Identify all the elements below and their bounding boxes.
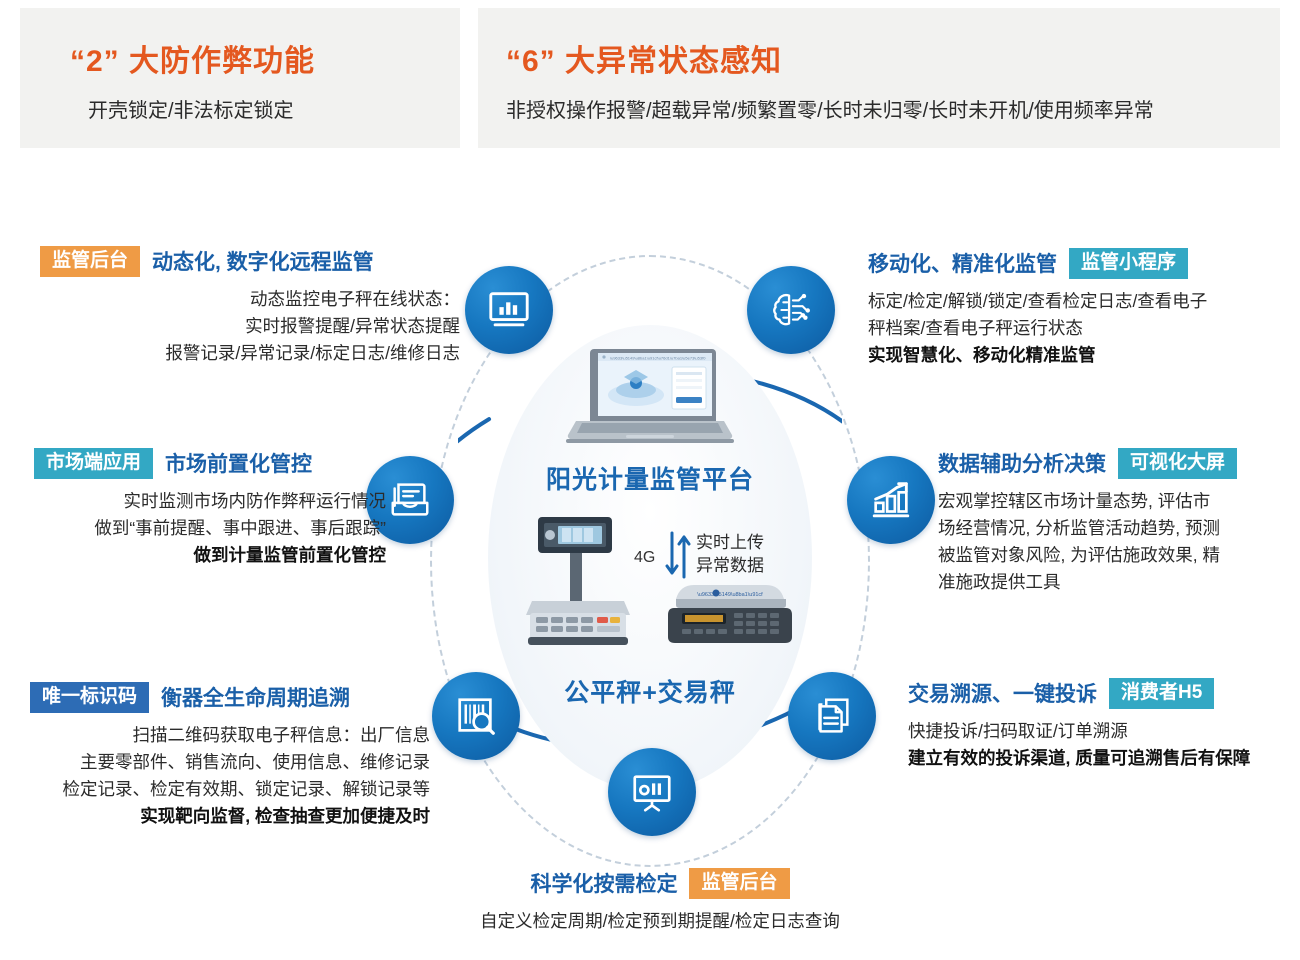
center-content: \u9633\u5149\u8ba1\u91cf\u76d1\u7ba1\u5e…	[488, 325, 812, 791]
network-label: 4G	[634, 549, 655, 567]
badge-visualization-screen: 可视化大屏	[1118, 448, 1237, 479]
block-heading: 科学化按需检定 监管后台	[400, 868, 920, 899]
body-line: 实时监测市场内防作弊秤运行情况	[34, 488, 386, 515]
body-line-bold: 做到计量监管前置化管控	[34, 542, 386, 569]
badge-market-app: 市场端应用	[34, 448, 153, 479]
block-title: 数据辅助分析决策	[938, 448, 1106, 478]
upload-label-line2: 异常数据	[696, 554, 764, 577]
upload-label-line1: 实时上传	[696, 531, 764, 554]
platform-title: 阳光计量监管平台	[488, 460, 812, 496]
block-body: 扫描二维码获取电子秤信息：出厂信息 主要零部件、销售流向、使用信息、维修记录 检…	[30, 722, 430, 830]
svg-text:\u9633\u5149\u8ba1\u91cf: \u9633\u5149\u8ba1\u91cf	[697, 592, 763, 598]
block-transaction-traceback-complaint: 交易溯源、一键投诉 消费者H5 快捷投诉/扫码取证/订单溯源 建立有效的投诉渠道…	[908, 678, 1288, 772]
body-line: 自定义检定周期/检定预到期提醒/检定日志查询	[400, 908, 920, 935]
block-dynamic-remote-supervision: 监管后台 动态化, 数字化远程监管 动态监控电子秤在线状态： 实时报警提醒/异常…	[40, 246, 460, 367]
upload-label: 实时上传 异常数据	[696, 531, 764, 577]
block-market-front-control: 市场端应用 市场前置化管控 实时监测市场内防作弊秤运行情况 做到“事前提醒、事中…	[34, 448, 386, 569]
body-line-bold: 实现靶向监督, 检查抽查更加便捷及时	[30, 803, 430, 830]
svg-text:\u9633\u5149\u8ba1\u91cf\u76d1: \u9633\u5149\u8ba1\u91cf\u76d1\u7ba1\u5e…	[610, 356, 706, 361]
node-scientific-verification[interactable]	[608, 748, 696, 836]
node-mobile-precise-supervision[interactable]	[747, 266, 835, 354]
body-line: 扫描二维码获取电子秤信息：出厂信息	[30, 722, 430, 749]
block-scientific-verification: 科学化按需检定 监管后台 自定义检定周期/检定预到期提醒/检定日志查询	[400, 868, 920, 935]
body-line: 标定/检定/解锁/锁定/查看检定日志/查看电子	[868, 288, 1280, 315]
block-body: 宏观掌控辖区市场计量态势, 评估市 场经营情况, 分析监管活动趋势, 预测 被监…	[938, 488, 1288, 596]
block-body: 自定义检定周期/检定预到期提醒/检定日志查询	[400, 908, 920, 935]
infographic-canvas: “2” 大防作弊功能 开壳锁定/非法标定锁定 “6” 大异常状态感知 非授权操作…	[0, 0, 1300, 960]
body-line: 被监管对象风险, 为评估施政效果, 精	[938, 542, 1288, 569]
body-line: 报警记录/异常记录/标定日志/维修日志	[40, 340, 460, 367]
block-heading: 市场端应用 市场前置化管控	[34, 448, 386, 479]
node-data-analysis-decision[interactable]	[847, 456, 935, 544]
block-title: 市场前置化管控	[165, 448, 312, 478]
inbox-document-icon	[387, 477, 433, 523]
header-panel-title: “2” 大防作弊功能	[70, 36, 315, 80]
block-heading: 移动化、精准化监管 监管小程序	[868, 248, 1280, 279]
body-line-bold: 建立有效的投诉渠道, 质量可追溯售后有保障	[908, 745, 1288, 772]
badge-supervision-backend: 监管后台	[40, 246, 140, 277]
block-mobile-precise-supervision: 移动化、精准化监管 监管小程序 标定/检定/解锁/锁定/查看检定日志/查看电子 …	[868, 248, 1280, 369]
block-heading: 数据辅助分析决策 可视化大屏	[938, 448, 1288, 479]
badge-supervision-miniprogram: 监管小程序	[1069, 248, 1188, 279]
block-title: 动态化, 数字化远程监管	[152, 246, 374, 276]
laptop-illustration: \u9633\u5149\u8ba1\u91cf\u76d1\u7ba1\u5e…	[564, 343, 736, 449]
node-lifecycle-traceability[interactable]	[432, 672, 520, 760]
body-line: 宏观掌控辖区市场计量态势, 评估市	[938, 488, 1288, 515]
block-title: 衡器全生命周期追溯	[161, 682, 350, 712]
body-line: 快捷投诉/扫码取证/订单溯源	[908, 718, 1288, 745]
node-transaction-traceback-complaint[interactable]	[788, 672, 876, 760]
header-panel-subtitle: 非授权操作报警/超载异常/频繁置零/长时未归零/长时未开机/使用频率异常	[506, 94, 1154, 123]
scales-caption: 公平秤+交易秤	[488, 673, 812, 709]
scales-illustration-row: \u9633\u5149\u8ba1\u91cf 4G	[504, 505, 796, 655]
ai-brain-icon	[768, 287, 814, 333]
body-line: 场经营情况, 分析监管活动趋势, 预测	[938, 515, 1288, 542]
block-lifecycle-traceability: 唯一标识码 衡器全生命周期追溯 扫描二维码获取电子秤信息：出厂信息 主要零部件、…	[30, 682, 430, 830]
badge-unique-id-code: 唯一标识码	[30, 682, 149, 713]
flat-scale-illustration: \u9633\u5149\u8ba1\u91cf	[668, 577, 792, 649]
upload-download-arrows-icon	[664, 531, 692, 579]
body-line: 主要零部件、销售流向、使用信息、维修记录	[30, 749, 430, 776]
badge-supervision-backend: 监管后台	[689, 868, 789, 899]
header-panel-anomaly: “6” 大异常状态感知 非授权操作报警/超载异常/频繁置零/长时未归零/长时未开…	[478, 8, 1280, 148]
growth-bar-chart-icon	[868, 477, 914, 523]
body-line: 检定记录、检定有效期、锁定记录、解锁记录等	[30, 776, 430, 803]
block-title: 移动化、精准化监管	[868, 248, 1057, 278]
node-dynamic-remote-supervision[interactable]	[465, 266, 553, 354]
block-heading: 唯一标识码 衡器全生命周期追溯	[30, 682, 430, 713]
body-line: 秤档案/查看电子秤运行状态	[868, 315, 1280, 342]
block-heading: 交易溯源、一键投诉 消费者H5	[908, 678, 1288, 709]
header-panel-anti-cheat: “2” 大防作弊功能 开壳锁定/非法标定锁定	[20, 8, 460, 148]
badge-consumer-h5: 消费者H5	[1109, 678, 1214, 709]
block-title: 科学化按需检定	[530, 868, 677, 898]
body-line: 实时报警提醒/异常状态提醒	[40, 313, 460, 340]
body-line-bold: 实现智慧化、移动化精准监管	[868, 342, 1280, 369]
header-panel-title: “6” 大异常状态感知	[506, 36, 782, 80]
block-data-analysis-decision: 数据辅助分析决策 可视化大屏 宏观掌控辖区市场计量态势, 评估市 场经营情况, …	[938, 448, 1288, 596]
body-line: 做到“事前提醒、事中跟进、事后跟踪”	[34, 515, 386, 542]
documents-copy-icon	[809, 693, 855, 739]
block-title: 交易溯源、一键投诉	[908, 678, 1097, 708]
monitor-chart-icon	[486, 287, 532, 333]
block-body: 快捷投诉/扫码取证/订单溯源 建立有效的投诉渠道, 质量可追溯售后有保障	[908, 718, 1288, 772]
block-heading: 监管后台 动态化, 数字化远程监管	[40, 246, 460, 277]
block-body: 标定/检定/解锁/锁定/查看检定日志/查看电子 秤档案/查看电子秤运行状态 实现…	[868, 288, 1280, 369]
barcode-scan-icon	[453, 693, 499, 739]
pole-scale-illustration	[522, 513, 634, 653]
block-body: 动态监控电子秤在线状态： 实时报警提醒/异常状态提醒 报警记录/异常记录/标定日…	[40, 286, 460, 367]
block-body: 实时监测市场内防作弊秤运行情况 做到“事前提醒、事中跟进、事后跟踪” 做到计量监…	[34, 488, 386, 569]
body-line: 动态监控电子秤在线状态：	[40, 286, 460, 313]
body-line: 准施政提供工具	[938, 569, 1288, 596]
header-panel-subtitle: 开壳锁定/非法标定锁定	[88, 94, 294, 123]
presentation-board-icon	[629, 769, 675, 815]
